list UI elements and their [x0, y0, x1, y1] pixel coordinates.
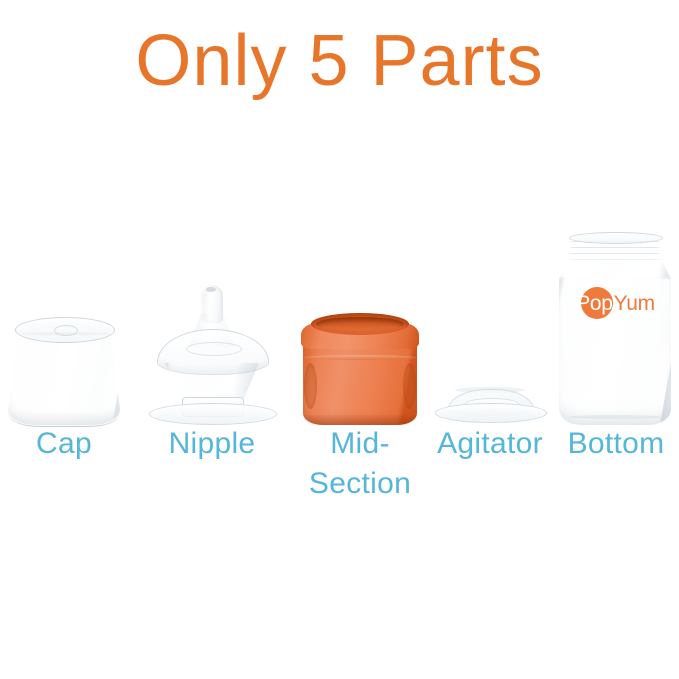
- label-mid-section-line2: Section: [300, 464, 420, 504]
- label-mid-section-line1: Mid-: [300, 424, 420, 464]
- cap-top-rim: [15, 317, 115, 343]
- logo-pop-text: Pop: [575, 293, 612, 314]
- product-parts-infographic: { "title": "Only 5 Parts", "theme": { "b…: [0, 0, 679, 679]
- page-title: Only 5 Parts: [0, 22, 679, 101]
- cap-icon: [8, 317, 120, 425]
- bottle-shoulder: [559, 259, 671, 279]
- bottle-neck-opening: [569, 232, 663, 244]
- label-agitator: Agitator: [430, 424, 550, 464]
- agitator-icon: [435, 385, 545, 425]
- label-bottom: Bottom: [555, 424, 677, 464]
- part-agitator: [434, 225, 546, 425]
- popyum-logo: Pop Yum: [559, 283, 671, 323]
- label-cap: Cap: [2, 424, 126, 464]
- label-nipple: Nipple: [150, 424, 274, 464]
- nipple-icon: [149, 285, 275, 425]
- mid-section-ridge: [303, 355, 417, 360]
- mid-section-icon: [301, 313, 419, 425]
- nipple-base-flange: [149, 403, 277, 425]
- label-mid-section: Mid- Section: [300, 424, 420, 504]
- bottom-bottle-icon: Pop Yum: [555, 235, 675, 425]
- parts-row: Pop Yum: [0, 225, 679, 425]
- parts-labels-row: Cap Nipple Mid- Section Agitator Bottom: [0, 424, 679, 514]
- part-bottom: Pop Yum: [553, 225, 677, 425]
- part-nipple: [150, 225, 274, 425]
- mid-section-grip-right: [403, 363, 416, 409]
- mid-section-grip-left: [304, 363, 317, 409]
- part-mid-section: [300, 225, 420, 425]
- agitator-rim-disc: [435, 403, 547, 423]
- mid-section-inner-rim: [311, 313, 409, 335]
- part-cap: [2, 225, 126, 425]
- logo-yum-text: Yum: [614, 293, 655, 314]
